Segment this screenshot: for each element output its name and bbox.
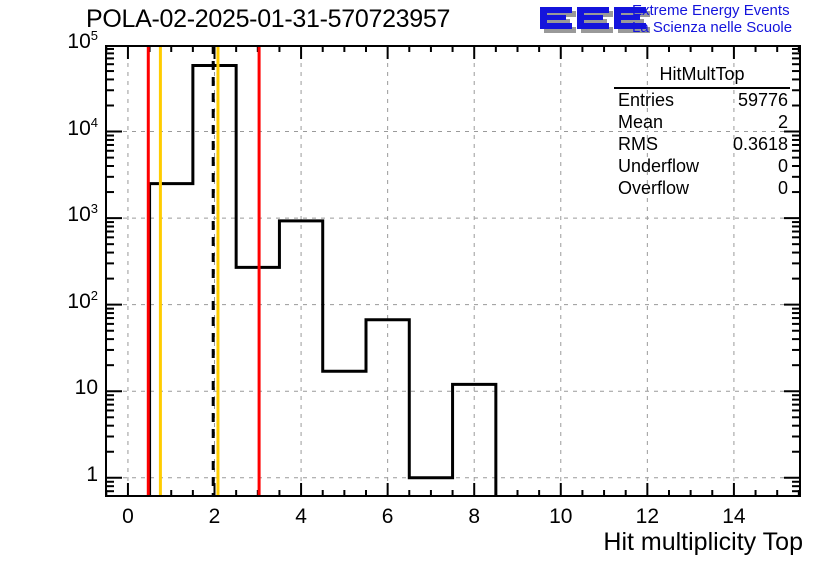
stats-box-title: HitMultTop	[614, 64, 790, 89]
stats-row: Overflow0	[614, 178, 790, 200]
stats-row-key: Underflow	[618, 156, 699, 177]
x-tick-label-5: 10	[536, 505, 586, 529]
y-tick-label-5: 105	[67, 30, 98, 54]
y-tick-label-1: 10	[75, 376, 98, 400]
page-title: POLA-02-2025-01-31-570723957	[86, 5, 450, 34]
stats-row: RMS0.3618	[614, 134, 790, 156]
stats-row-value: 59776	[738, 90, 788, 111]
stats-row-key: RMS	[618, 134, 658, 155]
x-tick-label-7: 14	[709, 505, 759, 529]
eee-logo-line2: La Scienza nelle Scuole	[632, 20, 792, 37]
x-tick-label-0: 0	[103, 505, 153, 529]
x-tick-label-6: 12	[622, 505, 672, 529]
y-tick-label-3: 103	[67, 203, 98, 227]
stats-row-key: Mean	[618, 112, 663, 133]
x-tick-label-1: 2	[190, 505, 240, 529]
root-canvas: POLA-02-2025-01-31-570723957	[0, 0, 836, 572]
eee-logo-line1: Extreme Energy Events	[632, 3, 792, 20]
stats-row-value: 0	[778, 156, 788, 177]
stats-row-value: 2	[778, 112, 788, 133]
x-tick-label-2: 4	[276, 505, 326, 529]
x-axis-title: Hit multiplicity Top	[603, 528, 803, 557]
eee-logo-text: Extreme Energy Events La Scienza nelle S…	[632, 3, 792, 36]
stats-row: Underflow0	[614, 156, 790, 178]
stats-box: HitMultTop Entries59776Mean2RMS0.3618Und…	[614, 64, 790, 200]
stats-row-key: Entries	[618, 90, 674, 111]
stats-row-value: 0	[778, 178, 788, 199]
x-tick-label-4: 8	[449, 505, 499, 529]
eee-logo: Extreme Energy Events La Scienza nelle S…	[536, 2, 834, 38]
x-tick-label-3: 6	[363, 505, 413, 529]
stats-row-key: Overflow	[618, 178, 689, 199]
stats-row-value: 0.3618	[733, 134, 788, 155]
stats-row: Entries59776	[614, 90, 790, 112]
y-tick-label-0: 1	[86, 463, 98, 487]
y-tick-label-2: 102	[67, 290, 98, 314]
y-tick-label-4: 104	[67, 117, 98, 141]
stats-row: Mean2	[614, 112, 790, 134]
